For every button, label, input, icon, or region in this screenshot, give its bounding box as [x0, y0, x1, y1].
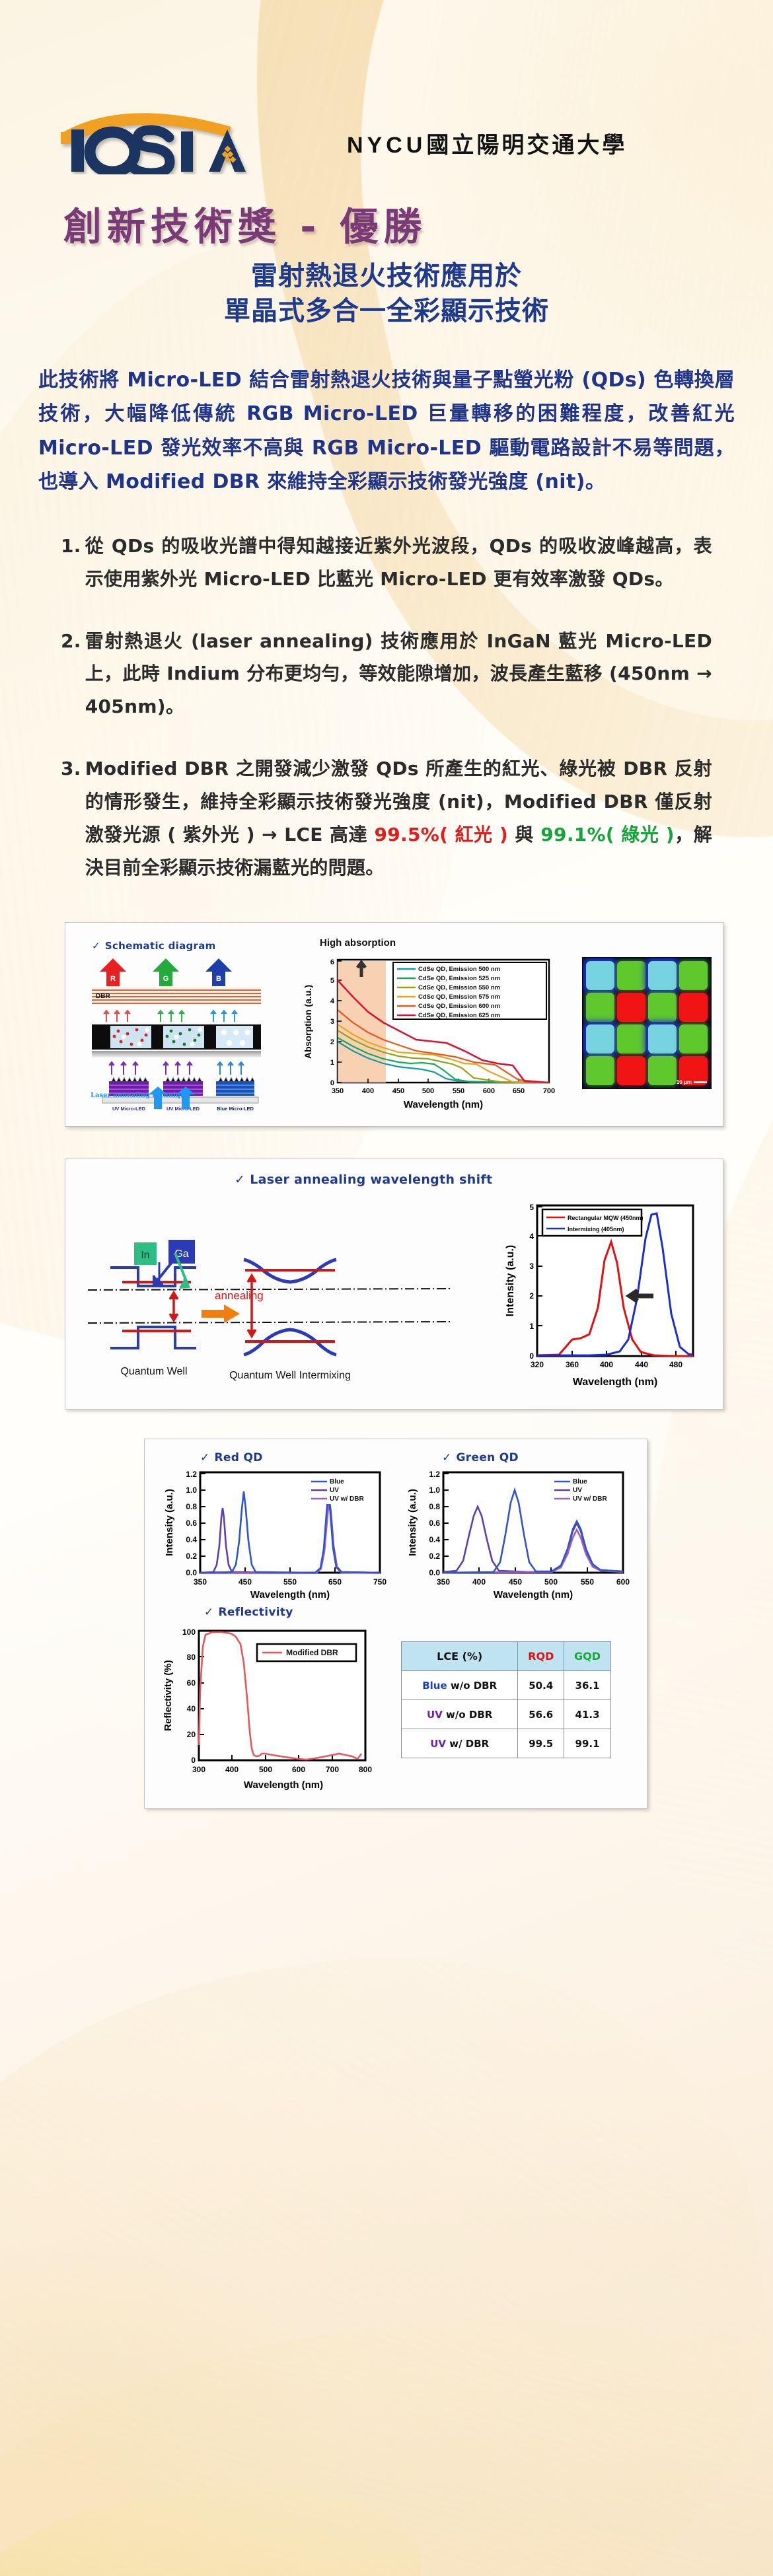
svg-text:1: 1	[330, 1059, 334, 1067]
reflectivity-chart: 02040 6080100 300400500 600700800	[158, 1624, 376, 1797]
svg-text:500: 500	[544, 1577, 558, 1587]
table-header-gqd: GQD	[564, 1642, 611, 1671]
svg-text:0.8: 0.8	[186, 1502, 197, 1511]
svg-text:1: 1	[529, 1322, 534, 1331]
page-title-line1: 雷射熱退火技術應用於	[0, 259, 773, 294]
check-icon: ✓	[92, 940, 100, 952]
red-qd-heading: ✓Red QD	[200, 1451, 263, 1464]
red-qd-label: Red QD	[215, 1451, 263, 1464]
led-pixel	[617, 961, 645, 990]
svg-text:4: 4	[330, 997, 335, 1005]
led-pixel	[617, 993, 645, 1022]
green-qd-chart: 0.00.20.4 0.60.81.0 1.2 350400450 500550…	[401, 1468, 632, 1600]
svg-text:5: 5	[529, 1203, 534, 1212]
svg-text:400: 400	[225, 1765, 239, 1774]
svg-text:CdSe QD, Emission 550 nm: CdSe QD, Emission 550 nm	[418, 984, 500, 991]
svg-text:Blue Micro-LED: Blue Micro-LED	[217, 1106, 254, 1112]
svg-text:1.0: 1.0	[429, 1485, 440, 1495]
list-item: 1. 從 QDs 的吸收光譜中得知越接近紫外光波段，QDs 的吸收波峰越高，表示…	[61, 530, 712, 596]
led-pixel	[648, 1056, 677, 1085]
check-icon: ✓	[200, 1451, 210, 1464]
svg-text:450: 450	[239, 1577, 252, 1587]
annealing-heading: ✓Laser annealing wavelength shift	[235, 1172, 492, 1187]
svg-text:0: 0	[529, 1351, 534, 1361]
svg-text:700: 700	[543, 1087, 555, 1095]
svg-text:Modified DBR: Modified DBR	[286, 1648, 338, 1657]
svg-text:CdSe QD, Emission 625 nm: CdSe QD, Emission 625 nm	[418, 1012, 500, 1019]
svg-text:0.0: 0.0	[429, 1568, 440, 1577]
led-pixel-grid	[583, 958, 711, 1089]
svg-text:Blue: Blue	[330, 1478, 344, 1485]
svg-text:UV Micro-LED: UV Micro-LED	[112, 1106, 146, 1112]
schematic-diagram-label: Schematic diagram	[105, 940, 216, 952]
high-absorption-label: High absorption	[320, 937, 396, 948]
led-pixel	[679, 1024, 708, 1054]
svg-text:CdSe QD, Emission 525 nm: CdSe QD, Emission 525 nm	[418, 975, 500, 982]
svg-text:800: 800	[359, 1765, 372, 1774]
row-label-rest: w/ DBR	[446, 1738, 489, 1750]
svg-text:1.2: 1.2	[429, 1470, 440, 1479]
svg-text:0.0: 0.0	[186, 1568, 197, 1577]
list-item: 3. Modified DBR 之開發減少激發 QDs 所產生的紅光、綠光被 D…	[61, 752, 712, 884]
svg-text:Wavelength (nm): Wavelength (nm)	[404, 1099, 483, 1110]
svg-text:6: 6	[330, 958, 334, 966]
table-cell-gqd: 99.1	[564, 1729, 611, 1758]
svg-text:Intermixing (405nm): Intermixing (405nm)	[568, 1226, 624, 1233]
scale-bar-label: 10 μm	[677, 1079, 692, 1085]
table-cell-rqd: 99.5	[518, 1729, 564, 1758]
svg-text:300: 300	[192, 1765, 205, 1774]
svg-text:100: 100	[182, 1628, 196, 1637]
table-row: Blue w/o DBR 50.4 36.1	[402, 1671, 611, 1700]
led-pixel	[648, 1024, 677, 1054]
svg-text:DBR: DBR	[96, 993, 110, 1000]
svg-text:650: 650	[328, 1577, 342, 1587]
svg-text:Reflectivity (%): Reflectivity (%)	[163, 1661, 174, 1732]
table-cell-rqd: 56.6	[518, 1700, 564, 1729]
svg-text:0.4: 0.4	[186, 1535, 197, 1544]
svg-text:600: 600	[483, 1087, 495, 1095]
svg-text:G: G	[163, 975, 169, 983]
university-name-en: NYCU	[347, 133, 426, 158]
row-label-source: UV	[430, 1738, 446, 1750]
check-icon: ✓	[235, 1172, 245, 1187]
quantum-well-diagram: In Ga annealing	[85, 1201, 495, 1393]
svg-text:400: 400	[600, 1360, 613, 1369]
svg-text:1.0: 1.0	[186, 1485, 197, 1495]
lce-green-value: 99.1%( 綠光 )	[540, 824, 675, 845]
svg-text:Wavelength (nm): Wavelength (nm)	[573, 1377, 657, 1388]
row-label-source: UV	[427, 1709, 443, 1721]
svg-text:0.6: 0.6	[429, 1519, 440, 1528]
svg-text:Absorption (a.u.): Absorption (a.u.)	[303, 985, 313, 1059]
row-label-rest: w/o DBR	[447, 1680, 497, 1692]
svg-text:0.6: 0.6	[186, 1519, 197, 1528]
green-qd-label: Green QD	[457, 1451, 519, 1464]
table-cell-gqd: 41.3	[564, 1700, 611, 1729]
led-pixel	[617, 1024, 645, 1054]
intro-paragraph: 此技術將 Micro-LED 結合雷射熱退火技術與量子點螢光粉 (QDs) 色轉…	[38, 363, 735, 499]
svg-text:CdSe QD, Emission 575 nm: CdSe QD, Emission 575 nm	[418, 993, 500, 1001]
schematic-diagram-heading: ✓Schematic diagram	[92, 940, 216, 952]
absorption-chart: 012 345 6 350400450 500550600 650700	[298, 954, 562, 1121]
svg-text:550: 550	[453, 1087, 464, 1095]
svg-text:550: 550	[283, 1577, 297, 1587]
svg-text:Intensity (a.u.): Intensity (a.u.)	[505, 1245, 516, 1316]
university-name: NYCU國立陽明交通大學	[347, 127, 627, 159]
award-title: 創新技術獎 - 優勝	[63, 196, 427, 251]
wavelength-shift-chart: 012 345 320360400 440480	[501, 1200, 706, 1396]
highlight-list: 1. 從 QDs 的吸收光譜中得知越接近紫外光波段，QDs 的吸收波峰越高，表示…	[61, 530, 712, 884]
list-item-text: 雷射熱退火 (laser annealing) 技術應用於 InGaN 藍光 M…	[85, 625, 712, 723]
page-title: 雷射熱退火技術應用於 單晶式多合一全彩顯示技術	[0, 259, 773, 329]
svg-text:Intensity (a.u.): Intensity (a.u.)	[164, 1489, 175, 1557]
list-item: 2. 雷射熱退火 (laser annealing) 技術應用於 InGaN 藍…	[61, 625, 712, 723]
university-name-zh: 國立陽明交通大學	[426, 132, 627, 159]
svg-text:5: 5	[330, 977, 334, 985]
table-row: UV w/o DBR 56.6 41.3	[402, 1700, 611, 1729]
svg-text:350: 350	[332, 1087, 344, 1095]
svg-text:500: 500	[259, 1765, 272, 1774]
svg-text:400: 400	[472, 1577, 486, 1587]
svg-text:UV w/ DBR: UV w/ DBR	[573, 1495, 607, 1503]
svg-text:20: 20	[187, 1730, 196, 1739]
scale-bar-line	[694, 1081, 707, 1083]
svg-text:600: 600	[292, 1765, 305, 1774]
svg-text:0.8: 0.8	[429, 1502, 440, 1511]
svg-text:B: B	[216, 975, 221, 983]
led-pixel	[648, 961, 677, 990]
led-pixel	[586, 993, 614, 1022]
svg-text:40: 40	[187, 1704, 196, 1713]
svg-text:UV w/ DBR: UV w/ DBR	[330, 1495, 364, 1503]
red-qd-chart: 0.00.20.4 0.60.81.0 1.2 350450550 650750	[158, 1468, 389, 1600]
svg-text:Quantum Well: Quantum Well	[120, 1366, 187, 1377]
check-icon: ✓	[204, 1606, 214, 1619]
svg-text:3: 3	[529, 1262, 534, 1271]
figure-panel-qd-results: ✓Red QD ✓Green QD ✓Reflectivity 0.00.20.…	[144, 1439, 647, 1808]
led-pixel	[617, 1056, 645, 1085]
table-header-row: LCE (%) RQD GQD	[402, 1642, 611, 1671]
poster-header: NYCU國立陽明交通大學 創新技術獎 - 優勝	[0, 0, 773, 198]
svg-text:Blue: Blue	[573, 1478, 587, 1485]
lce-table: LCE (%) RQD GQD Blue w/o DBR 50.4 36.1 U…	[401, 1641, 611, 1758]
table-row: UV w/ DBR 99.5 99.1	[402, 1729, 611, 1758]
svg-text:UV: UV	[330, 1487, 339, 1494]
table-header-rqd: RQD	[518, 1642, 564, 1671]
list-item-number: 3.	[61, 752, 85, 884]
svg-text:350: 350	[194, 1577, 207, 1587]
led-pixel	[648, 993, 677, 1022]
iosia-logo	[52, 100, 256, 174]
svg-text:CdSe QD, Emission 500 nm: CdSe QD, Emission 500 nm	[418, 966, 500, 973]
green-qd-heading: ✓Green QD	[442, 1451, 519, 1464]
svg-text:450: 450	[509, 1577, 522, 1587]
figure-panel-schematic: ✓Schematic diagram High absorption R G B	[65, 922, 723, 1127]
list-item-text-mid: 與	[508, 824, 540, 845]
led-pixel	[586, 961, 614, 990]
table-cell-rqd: 50.4	[518, 1671, 564, 1700]
svg-text:320: 320	[531, 1360, 544, 1369]
svg-text:750: 750	[373, 1577, 386, 1587]
svg-text:80: 80	[187, 1653, 196, 1662]
svg-text:450: 450	[392, 1087, 404, 1095]
svg-text:CdSe QD, Emission 600 nm: CdSe QD, Emission 600 nm	[418, 1003, 500, 1010]
svg-text:360: 360	[566, 1360, 579, 1369]
lce-red-value: 99.5%( 紅光 )	[374, 824, 508, 845]
svg-text:Intensity (a.u.): Intensity (a.u.)	[407, 1489, 418, 1557]
svg-text:0.2: 0.2	[186, 1552, 197, 1561]
row-label-source: Blue	[422, 1680, 447, 1692]
microled-array-micrograph: 10 μm	[582, 957, 712, 1089]
svg-text:700: 700	[326, 1765, 339, 1774]
table-cell-label: UV w/ DBR	[402, 1729, 518, 1758]
page-title-line2: 單晶式多合一全彩顯示技術	[0, 294, 773, 329]
svg-text:2: 2	[529, 1291, 534, 1301]
svg-text:650: 650	[513, 1087, 525, 1095]
svg-text:2: 2	[330, 1038, 334, 1046]
svg-text:R: R	[110, 975, 116, 983]
annealing-heading-label: Laser annealing wavelength shift	[250, 1172, 492, 1187]
svg-text:0.4: 0.4	[429, 1535, 440, 1544]
check-icon: ✓	[442, 1451, 452, 1464]
svg-text:In: In	[141, 1250, 149, 1261]
poster-page: NYCU國立陽明交通大學 創新技術獎 - 優勝 雷射熱退火技術應用於 單晶式多合…	[0, 0, 773, 1808]
svg-text:3: 3	[330, 1018, 334, 1026]
svg-text:400: 400	[362, 1087, 374, 1095]
svg-text:0.2: 0.2	[429, 1552, 440, 1561]
svg-text:1.2: 1.2	[186, 1470, 197, 1479]
led-pixel	[586, 1024, 614, 1054]
svg-text:Wavelength (nm): Wavelength (nm)	[244, 1779, 323, 1791]
svg-text:600: 600	[616, 1577, 630, 1587]
svg-text:Rectangular MQW (450nm): Rectangular MQW (450nm)	[568, 1215, 644, 1221]
svg-text:0: 0	[330, 1079, 334, 1087]
svg-text:60: 60	[187, 1678, 196, 1688]
list-item-number: 1.	[61, 530, 85, 596]
reflectivity-heading: ✓Reflectivity	[204, 1606, 293, 1619]
svg-text:annealing: annealing	[215, 1289, 264, 1302]
svg-text:440: 440	[635, 1360, 648, 1369]
svg-text:480: 480	[669, 1360, 682, 1369]
table-cell-gqd: 36.1	[564, 1671, 611, 1700]
svg-text:Quantum Well Intermixing: Quantum Well Intermixing	[229, 1370, 351, 1381]
laser-annealing-arrows	[145, 1087, 204, 1110]
led-pixel	[679, 961, 708, 990]
list-item-number: 2.	[61, 625, 85, 723]
led-pixel	[586, 1056, 614, 1085]
svg-text:550: 550	[581, 1577, 594, 1587]
svg-text:Wavelength (nm): Wavelength (nm)	[494, 1589, 573, 1600]
led-pixel	[679, 993, 708, 1022]
reflectivity-label: Reflectivity	[219, 1606, 293, 1619]
svg-text:Wavelength (nm): Wavelength (nm)	[250, 1589, 330, 1600]
svg-text:350: 350	[437, 1577, 450, 1587]
row-label-rest: w/o DBR	[443, 1709, 493, 1721]
table-cell-label: UV w/o DBR	[402, 1700, 518, 1729]
list-item-text: 從 QDs 的吸收光譜中得知越接近紫外光波段，QDs 的吸收波峰越高，表示使用紫…	[85, 530, 712, 596]
svg-text:0: 0	[191, 1756, 196, 1765]
scale-bar: 10 μm	[677, 1079, 707, 1085]
svg-text:UV: UV	[573, 1487, 582, 1494]
svg-text:4: 4	[529, 1232, 534, 1241]
table-cell-label: Blue w/o DBR	[402, 1671, 518, 1700]
svg-text:500: 500	[422, 1087, 434, 1095]
table-header-lce: LCE (%)	[402, 1642, 518, 1671]
list-item-text: Modified DBR 之開發減少激發 QDs 所產生的紅光、綠光被 DBR …	[85, 752, 712, 884]
figure-panel-annealing: ✓Laser annealing wavelength shift	[65, 1159, 723, 1410]
